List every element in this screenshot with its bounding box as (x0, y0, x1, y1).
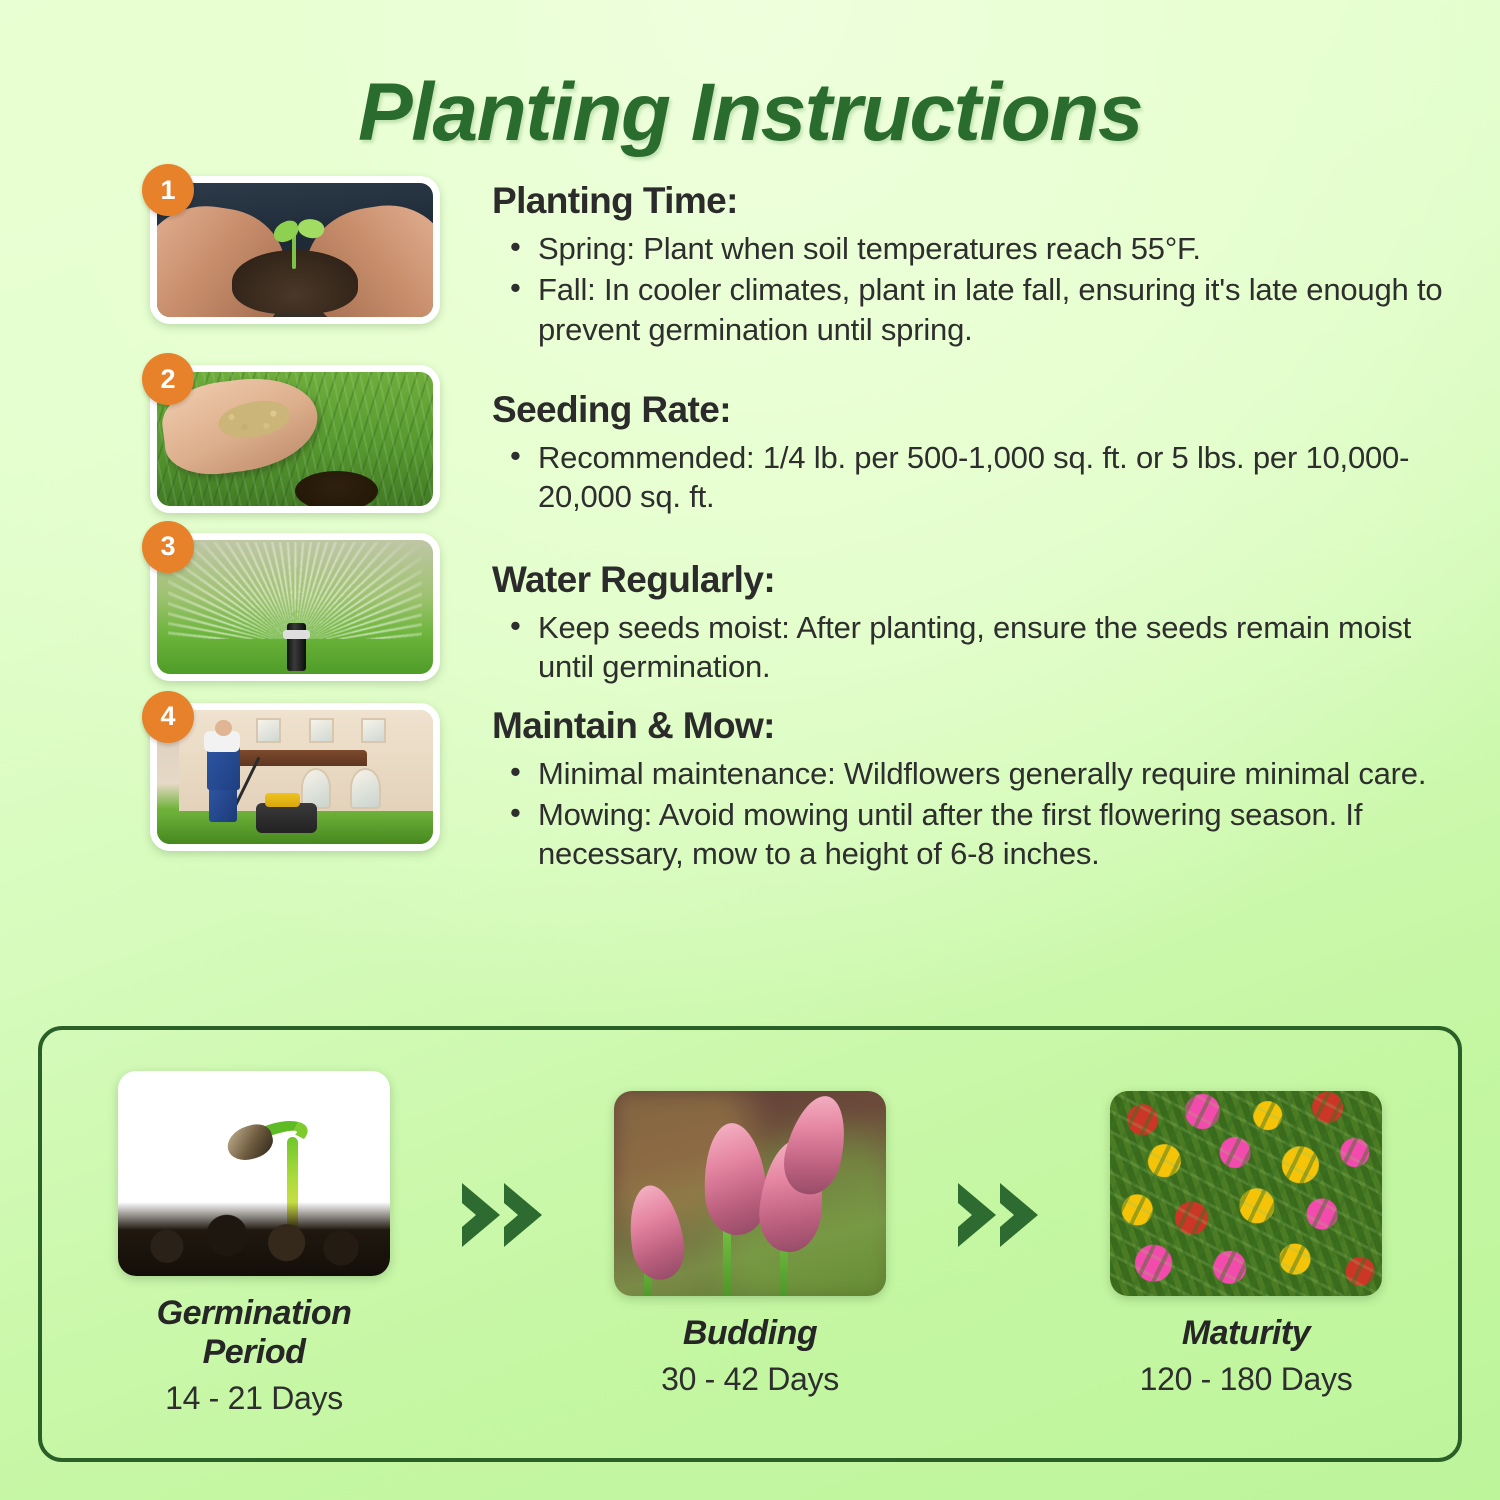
planting-steps-list: 1 Planting Time: Spring: Plant when soil… (0, 176, 1500, 876)
stage-label: Budding (600, 1314, 900, 1353)
stage-label: Germination Period (104, 1294, 404, 1372)
bullet: Spring: Plant when soil temperatures rea… (492, 229, 1452, 268)
double-chevron-right-icon (454, 1177, 550, 1253)
growth-timeline-panel: Germination Period 14 - 21 Days Budding … (38, 1026, 1462, 1462)
bullet: Minimal maintenance: Wildflowers general… (492, 754, 1452, 793)
step-3-body: Water Regularly: Keep seeds moist: After… (492, 533, 1452, 689)
step-3-thumbnail-wrap: 3 (150, 533, 450, 681)
man-mowing-lawn-in-front-of-house-photo (150, 703, 440, 851)
step-1-body: Planting Time: Spring: Plant when soil t… (492, 176, 1452, 351)
step-1-thumbnail-wrap: 1 (150, 176, 450, 324)
timeline-stage-germination: Germination Period 14 - 21 Days (104, 1071, 404, 1417)
step-4-heading: Maintain & Mow: (492, 705, 1452, 747)
double-chevron-right-icon (950, 1177, 1046, 1253)
bullet: Mowing: Avoid mowing until after the fir… (492, 795, 1452, 874)
stage-duration: 120 - 180 Days (1096, 1361, 1396, 1398)
step-4-thumbnail-wrap: 4 (150, 703, 450, 851)
step-item-4: 4 Maintain & Mow: Minimal maintenance: W… (150, 703, 1460, 876)
wildflower-meadow-bloom-photo (1110, 1091, 1382, 1296)
pink-lotus-buds-photo (614, 1091, 886, 1296)
timeline-stage-maturity: Maturity 120 - 180 Days (1096, 1091, 1396, 1398)
step-2-heading: Seeding Rate: (492, 389, 1452, 431)
step-item-1: 1 Planting Time: Spring: Plant when soil… (150, 176, 1460, 351)
step-2-bullets: Recommended: 1/4 lb. per 500-1,000 sq. f… (492, 438, 1452, 517)
step-number-badge-3: 3 (142, 521, 194, 573)
step-3-bullets: Keep seeds moist: After planting, ensure… (492, 608, 1452, 687)
step-item-2: 2 Seeding Rate: Recommended: 1/4 lb. per… (150, 365, 1460, 519)
step-1-bullets: Spring: Plant when soil temperatures rea… (492, 229, 1452, 349)
bullet: Recommended: 1/4 lb. per 500-1,000 sq. f… (492, 438, 1452, 517)
hands-holding-soil-sprout-photo (150, 176, 440, 324)
bullet: Fall: In cooler climates, plant in late … (492, 270, 1452, 349)
lawn-sprinkler-watering-photo (150, 533, 440, 681)
step-number-badge-2: 2 (142, 353, 194, 405)
step-2-body: Seeding Rate: Recommended: 1/4 lb. per 5… (492, 365, 1452, 519)
step-1-heading: Planting Time: (492, 180, 1452, 222)
germinating-seed-sprout-photo (118, 1071, 390, 1276)
stage-duration: 14 - 21 Days (104, 1380, 404, 1417)
stage-label: Maturity (1096, 1314, 1396, 1353)
timeline-stage-budding: Budding 30 - 42 Days (600, 1091, 900, 1398)
hand-scattering-seeds-on-grass-photo (150, 365, 440, 513)
step-item-3: 3 Water Regularly: Keep seeds moist: Aft… (150, 533, 1460, 689)
step-2-thumbnail-wrap: 2 (150, 365, 450, 513)
step-number-badge-1: 1 (142, 164, 194, 216)
step-4-body: Maintain & Mow: Minimal maintenance: Wil… (492, 703, 1452, 876)
stage-duration: 30 - 42 Days (600, 1361, 900, 1398)
step-number-badge-4: 4 (142, 691, 194, 743)
step-4-bullets: Minimal maintenance: Wildflowers general… (492, 754, 1452, 874)
page-title: Planting Instructions (0, 0, 1500, 160)
bullet: Keep seeds moist: After planting, ensure… (492, 608, 1452, 687)
step-3-heading: Water Regularly: (492, 559, 1452, 601)
